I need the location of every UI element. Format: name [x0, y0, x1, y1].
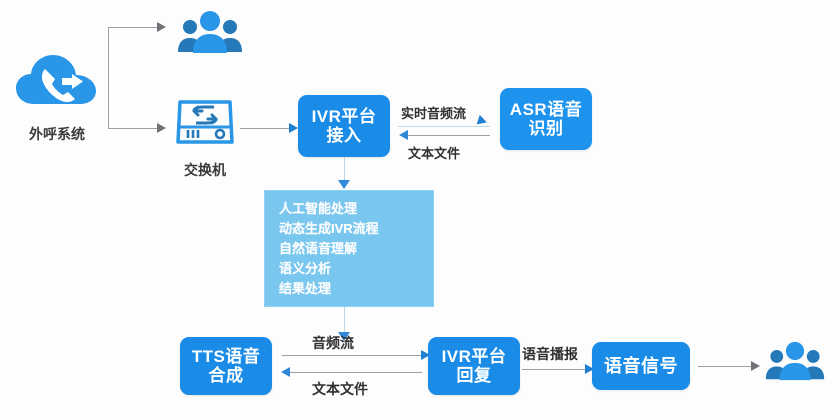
ivr-reply-line-1: IVR平台 [442, 347, 507, 366]
text-file-bottom-arrowhead [281, 367, 290, 377]
realtime-audio-stream-label: 实时音频流 [401, 103, 466, 122]
bracket-top-arrowhead [157, 22, 166, 32]
outbound-system-label: 外呼系统 [4, 124, 110, 144]
text-file-top-label: 文本文件 [408, 143, 460, 162]
text-file-bottom-label: 文本文件 [312, 379, 368, 399]
asr-line-1: ASR语音 [510, 100, 582, 119]
cloud-phone-icon [14, 52, 100, 114]
ivr-reply-line-2: 回复 [457, 366, 492, 385]
ivr-to-panel-arrowhead [338, 180, 350, 189]
diagram-canvas: 外呼系统 交换机 [0, 0, 840, 420]
bracket-top-line [108, 27, 158, 28]
voice-signal-line-1: 语音信号 [604, 356, 678, 376]
realtime-audio-stream-line [398, 126, 490, 127]
asr-line-2: 识别 [529, 119, 564, 138]
signal-to-customers-line [698, 366, 752, 367]
people-group-icon [764, 338, 826, 384]
bracket-vertical-line [108, 27, 109, 128]
bracket-bottom-arrowhead [157, 123, 166, 133]
audio-stream-label: 音频流 [312, 333, 354, 353]
ivr-reply-box[interactable]: IVR平台 回复 [428, 337, 520, 395]
ai-panel-line-3: 自然语音理解 [279, 242, 433, 255]
ai-panel-line-2: 动态生成IVR流程 [279, 222, 433, 235]
ai-processing-panel: 人工智能处理 动态生成IVR流程 自然语音理解 语义分析 结果处理 [264, 190, 434, 307]
network-switch-icon [174, 96, 236, 148]
text-file-bottom-line [290, 372, 422, 373]
ai-panel-line-4: 语义分析 [279, 262, 433, 275]
switch-to-ivr-line [240, 128, 290, 129]
panel-to-bottom-line [344, 307, 345, 335]
ivr-access-line-2: 接入 [327, 126, 362, 145]
text-file-top-arrowhead [399, 130, 408, 140]
ivr-access-box[interactable]: IVR平台 接入 [298, 95, 390, 157]
switch-label: 交换机 [160, 160, 250, 180]
signal-to-customers-arrowhead [751, 361, 760, 371]
ai-panel-line-1: 人工智能处理 [279, 202, 433, 215]
switch-to-ivr-arrowhead [289, 123, 298, 133]
tts-line-1: TTS语音 [192, 347, 261, 366]
audio-stream-line [282, 355, 422, 356]
ivr-access-line-1: IVR平台 [312, 107, 377, 126]
voice-signal-box[interactable]: 语音信号 [592, 342, 690, 390]
tts-line-2: 合成 [209, 366, 244, 385]
voice-broadcast-line [522, 369, 586, 370]
voice-broadcast-label: 语音播报 [522, 344, 578, 364]
tts-box[interactable]: TTS语音 合成 [180, 337, 272, 395]
text-file-top-line [408, 135, 490, 136]
bracket-bottom-line [108, 128, 158, 129]
people-group-icon [176, 8, 244, 56]
asr-box[interactable]: ASR语音 识别 [500, 88, 592, 150]
ai-panel-line-5: 结果处理 [279, 282, 433, 295]
